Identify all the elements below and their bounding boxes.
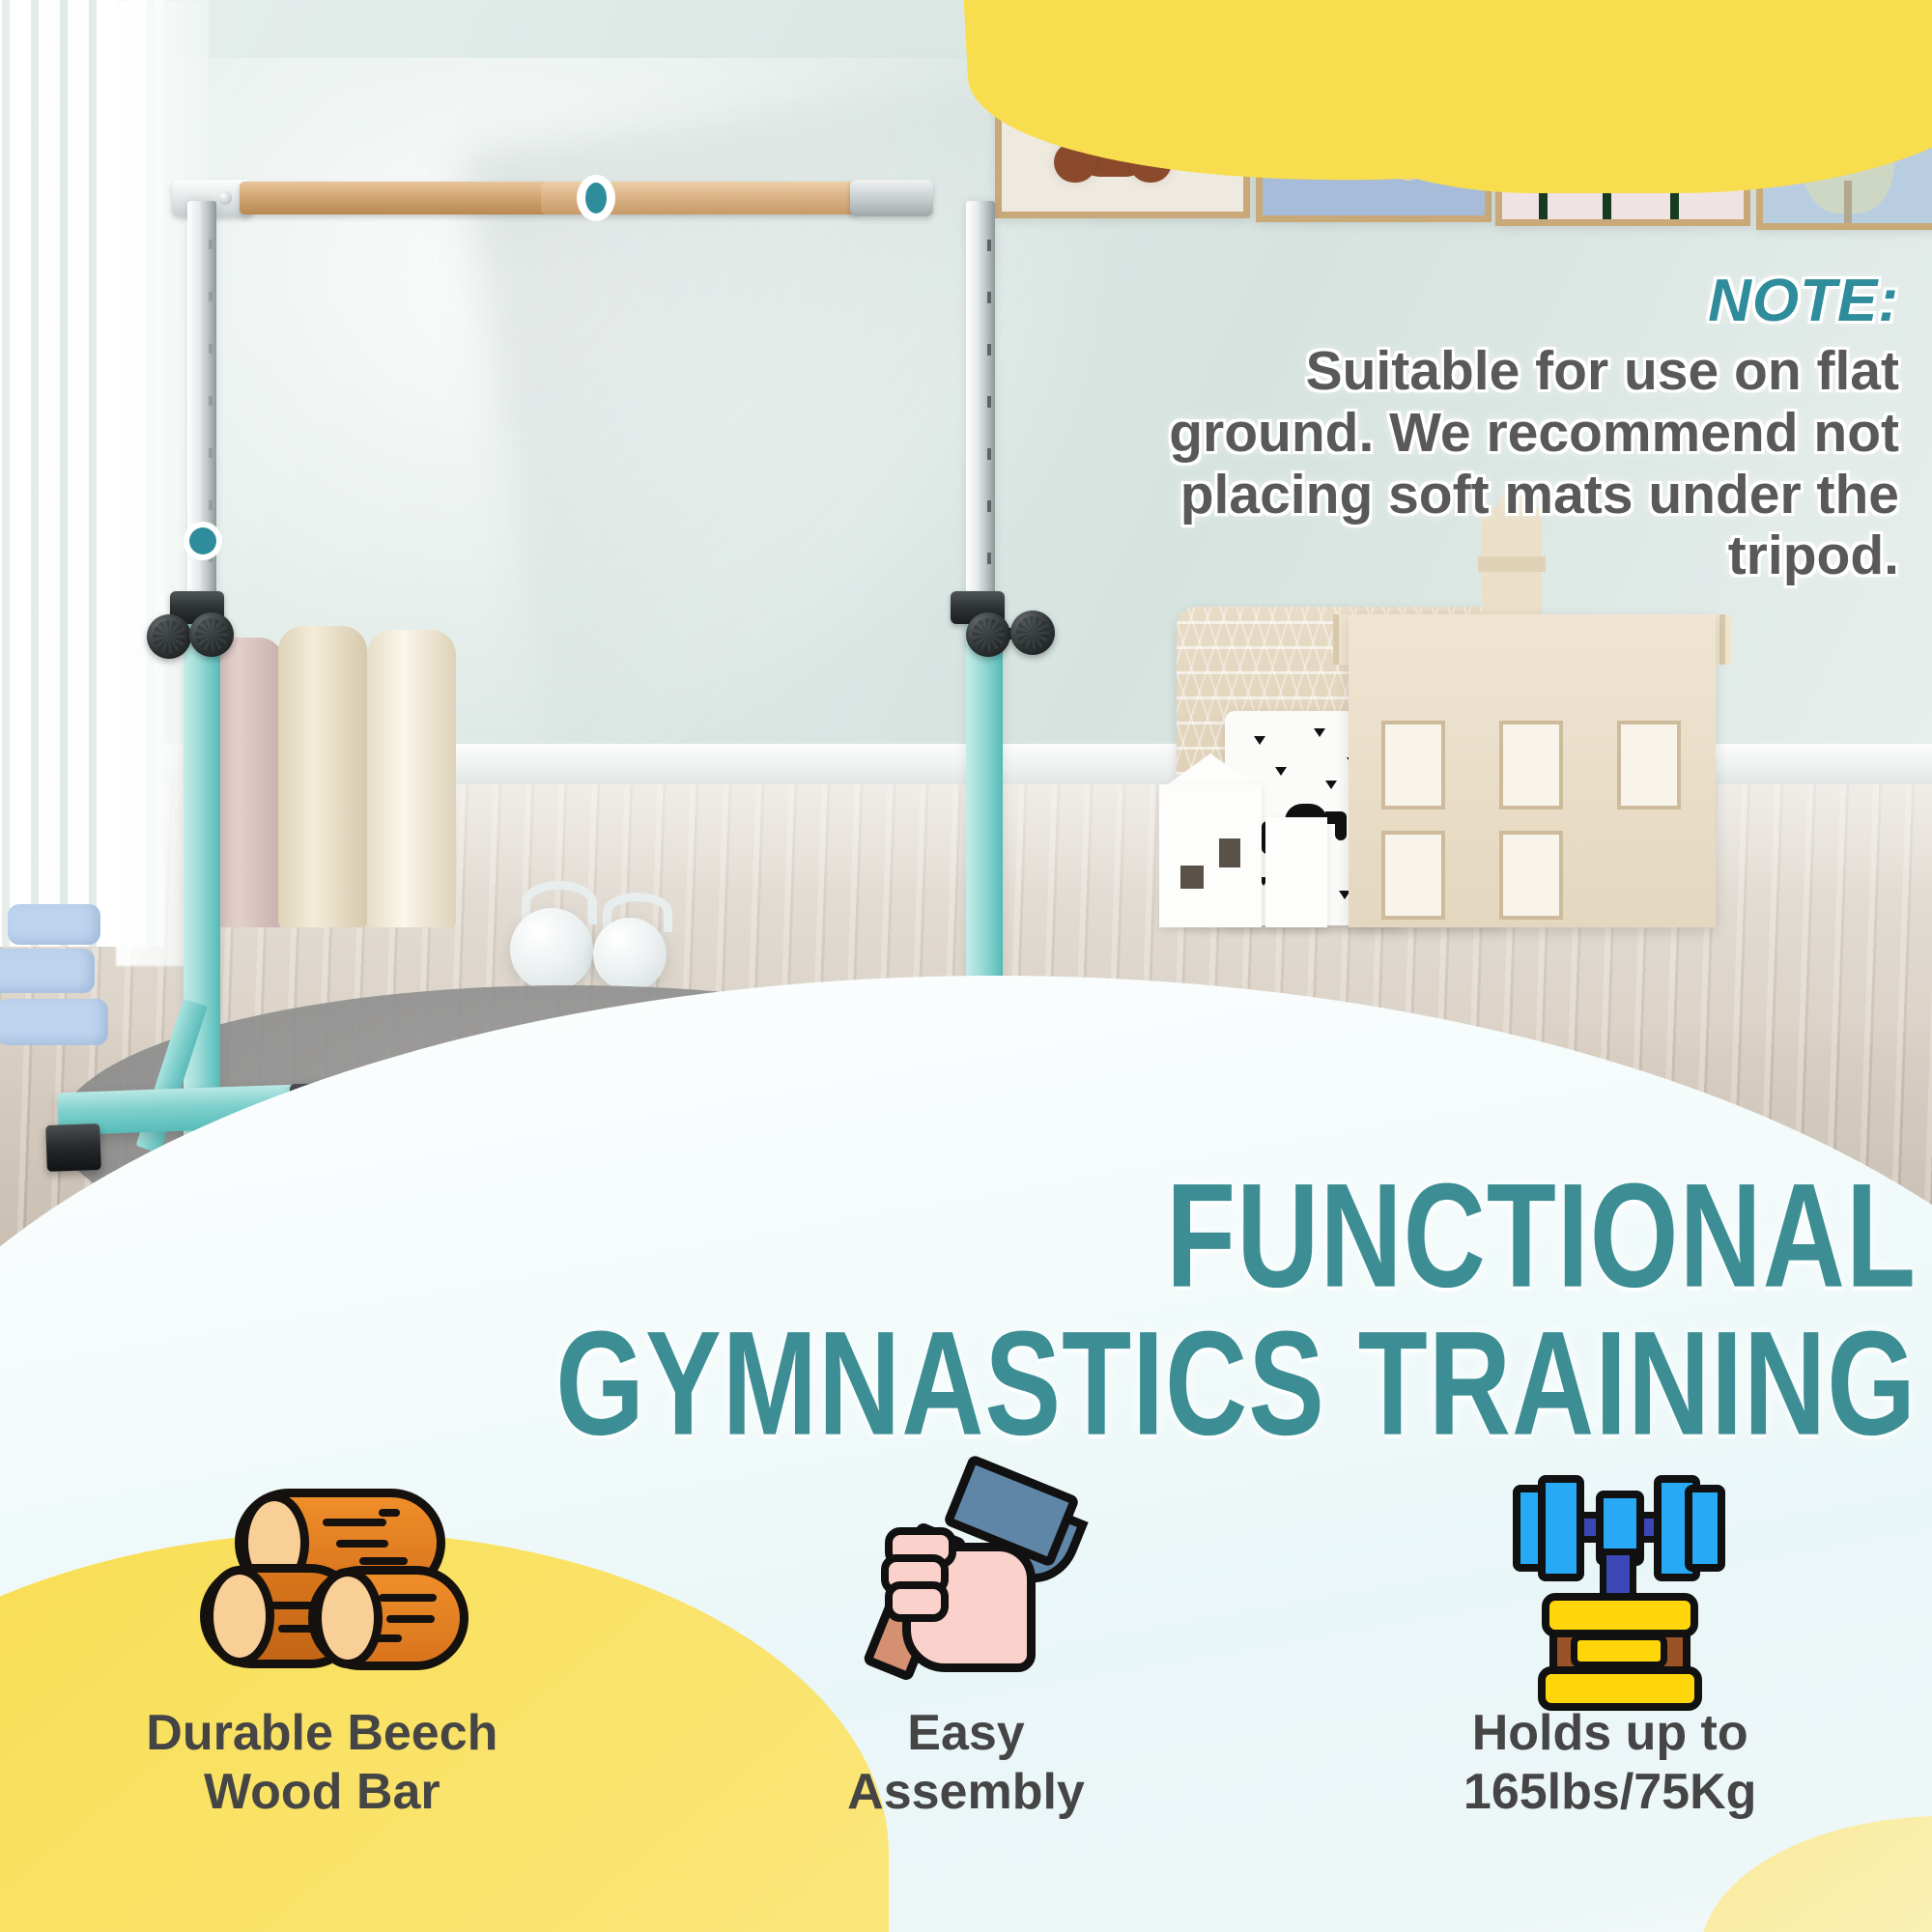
feature-label: Holds up to 165lbs/75Kg (1463, 1704, 1757, 1823)
bar-bolt (218, 191, 232, 205)
headline-line-1: FUNCTIONAL (410, 1168, 1917, 1304)
hammer-icon (860, 1468, 1072, 1671)
feature-item-easy-assembly: Easy Assembly (644, 1468, 1289, 1922)
rubber-end-cap (45, 1123, 101, 1172)
logs-icon (196, 1468, 447, 1671)
adjustment-knob (1010, 611, 1055, 655)
yellow-wave-top-secondary (1333, 0, 1932, 193)
note-body: Suitable for use on flat ground. We reco… (1165, 341, 1899, 587)
note-callout: NOTE: Suitable for use on flat ground. W… (1165, 267, 1899, 587)
headline-line-2: GYMNASTICS TRAINING (410, 1316, 1917, 1452)
feature-item-wood-bar: Durable Beech Wood Bar (0, 1468, 644, 1922)
marketing-banner: NOTE: Suitable for use on flat ground. W… (0, 0, 1932, 1932)
adjustment-knob (966, 612, 1010, 657)
adjustment-knob (189, 612, 234, 657)
feature-label: Easy Assembly (847, 1704, 1085, 1823)
bar-end-cap-right (850, 180, 933, 216)
feature-item-weight-capacity: Holds up to 165lbs/75Kg (1288, 1468, 1932, 1922)
weights-icon (1499, 1468, 1721, 1671)
bar-center-collar (580, 178, 612, 218)
page-title: FUNCTIONAL GYMNASTICS TRAINING (410, 1200, 1917, 1452)
upright-post-right (966, 201, 995, 607)
height-adjust-marker (184, 522, 222, 560)
feature-label: Durable Beech Wood Bar (146, 1704, 497, 1823)
feature-list: Durable Beech Wood Bar Easy Assembly (0, 1468, 1932, 1922)
note-title: NOTE: (1165, 267, 1899, 335)
adjustment-knob (147, 614, 191, 659)
